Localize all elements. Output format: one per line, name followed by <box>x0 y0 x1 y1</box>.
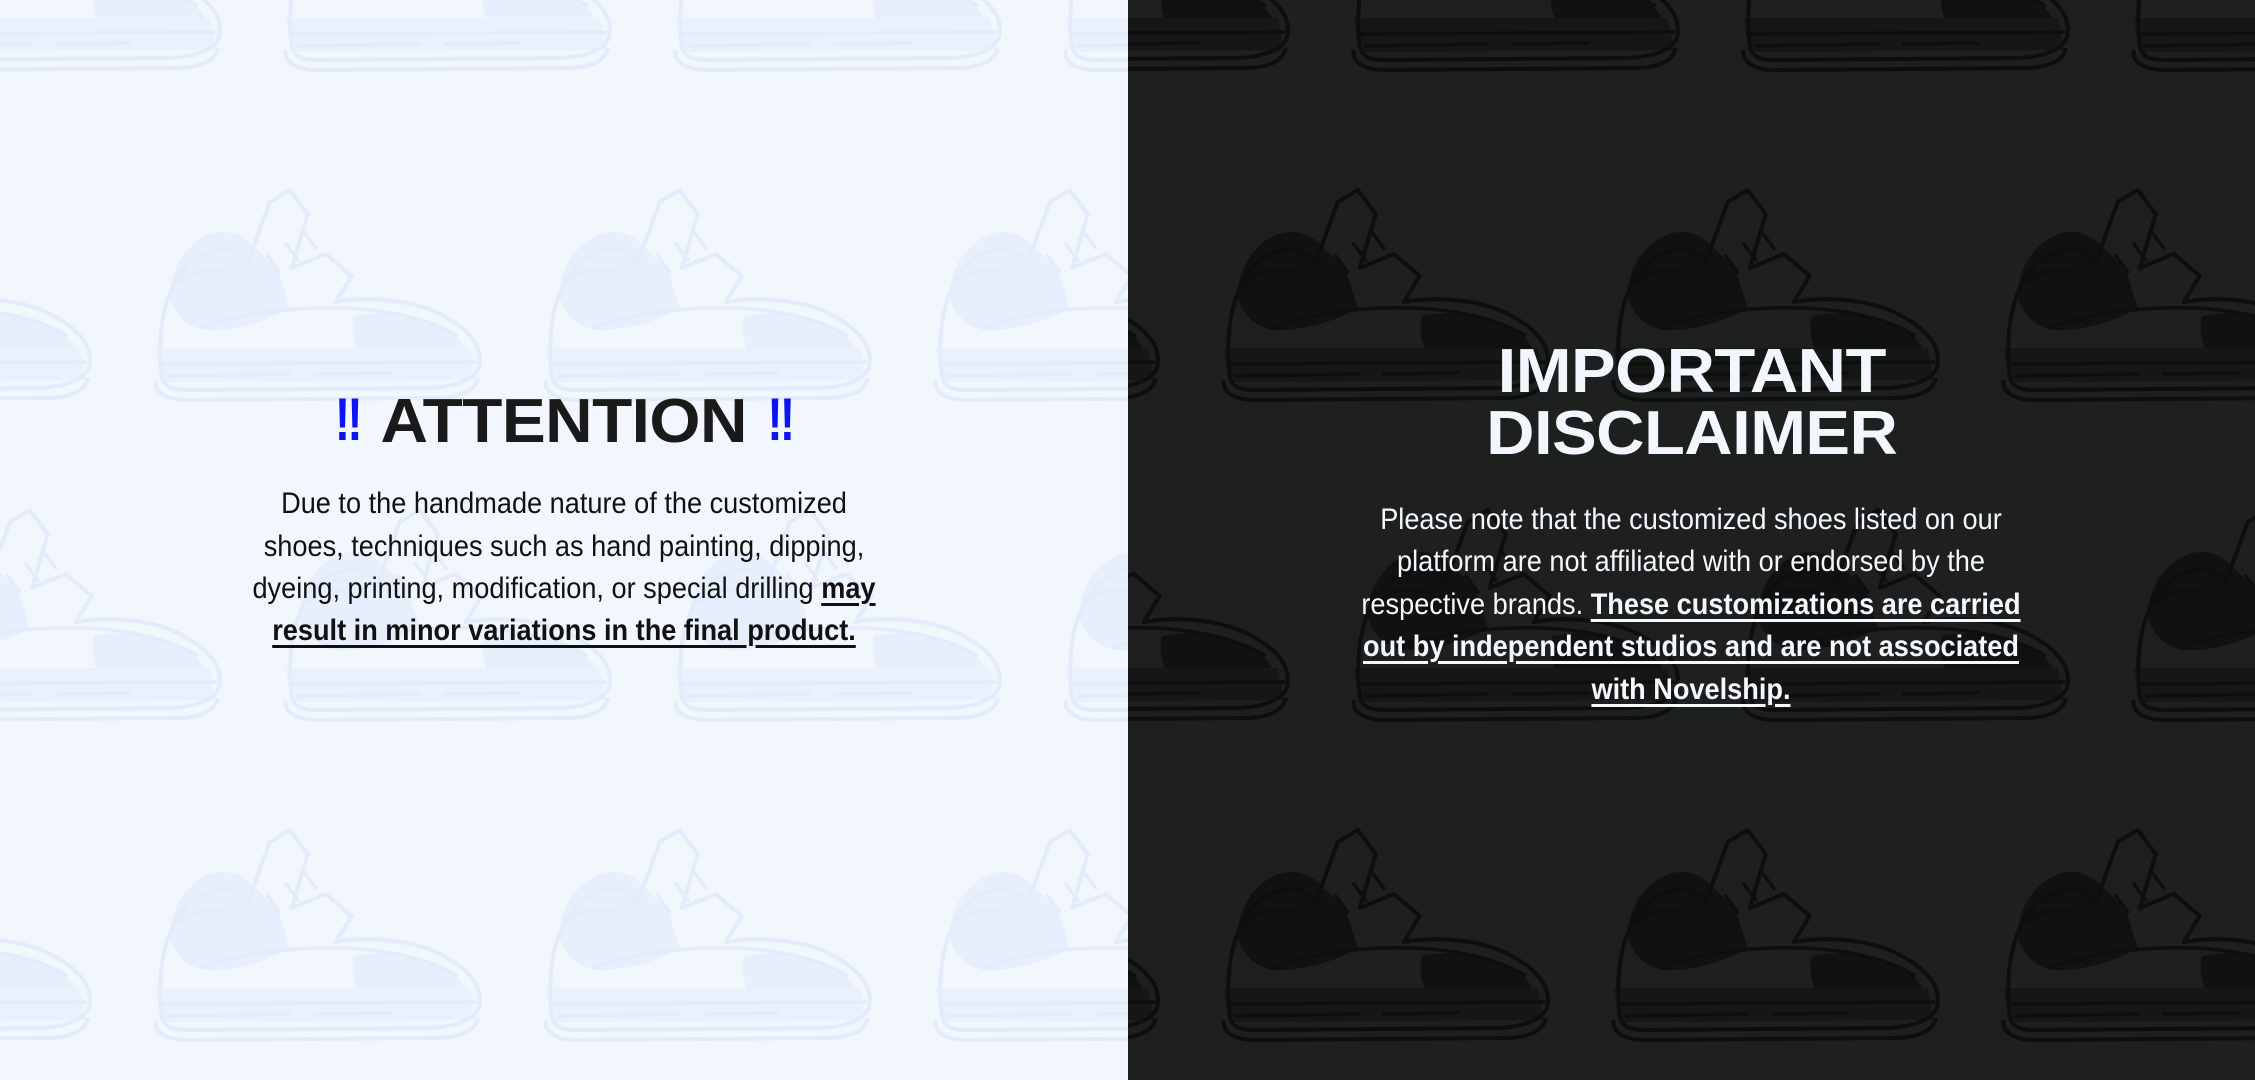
attention-panel: ‼ATTENTION‼ Due to the handmade nature o… <box>0 0 1128 1080</box>
disclaimer-heading-line-1: IMPORTANT <box>1128 341 2255 403</box>
attention-body-lead: Due to the handmade nature of the custom… <box>252 487 864 605</box>
disclaimer-heading-line-2: DISCLAIMER <box>1128 403 2255 465</box>
disclaimer-panel: IMPORTANT DISCLAIMER Please note that th… <box>1128 0 2255 1080</box>
attention-heading: ‼ATTENTION‼ <box>9 391 1119 453</box>
attention-heading-text: ATTENTION <box>366 391 762 453</box>
disclaimer-heading: IMPORTANT DISCLAIMER <box>1128 341 2255 465</box>
disclaimer-body: Please note that the customized shoes li… <box>1351 499 2032 711</box>
attention-body: Due to the handmade nature of the custom… <box>242 483 886 653</box>
disclaimer-content: IMPORTANT DISCLAIMER Please note that th… <box>1128 341 2255 711</box>
disclaimer-banner: ‼ATTENTION‼ Due to the handmade nature o… <box>0 0 2255 1080</box>
double-exclamation-icon-left: ‼ <box>334 390 360 450</box>
double-exclamation-icon-right: ‼ <box>767 390 793 450</box>
attention-content: ‼ATTENTION‼ Due to the handmade nature o… <box>0 391 1128 653</box>
